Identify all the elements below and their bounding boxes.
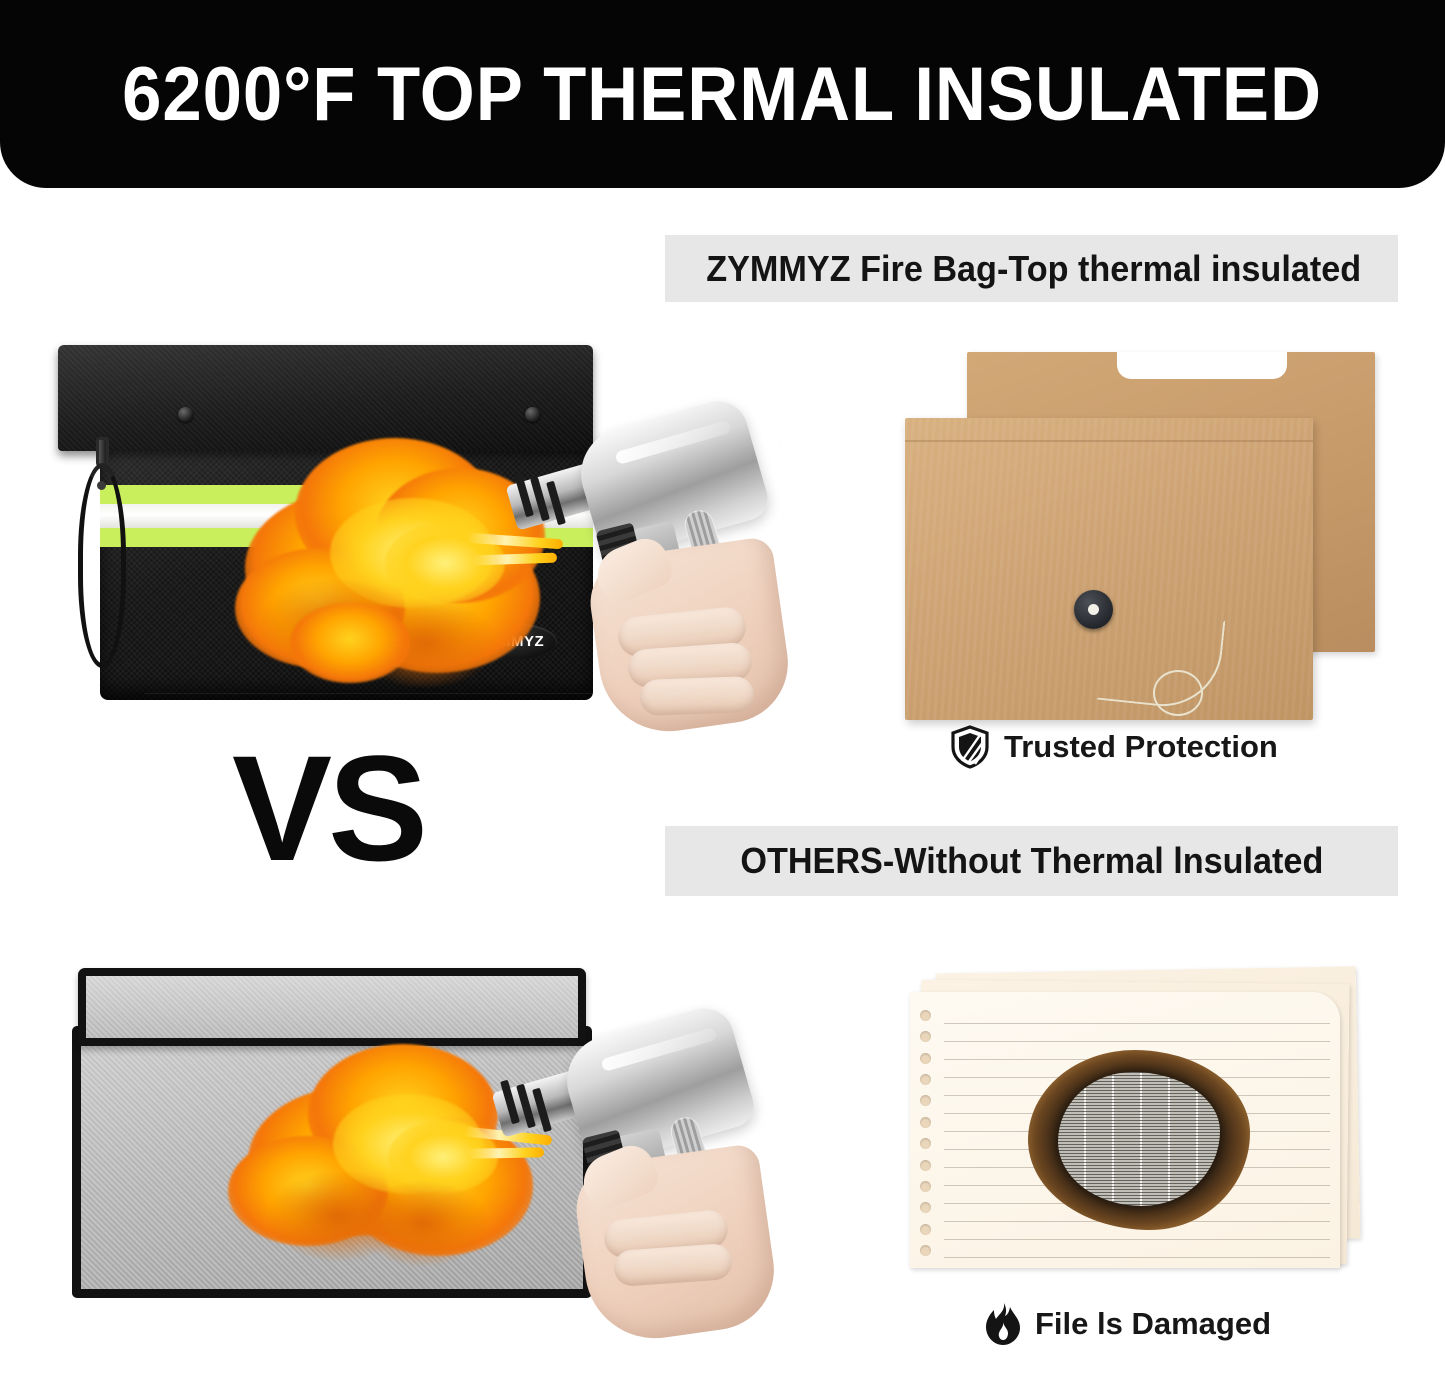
flame-icon: [985, 1302, 1021, 1346]
header-banner: 6200°F TOP THERMAL INSULATED: [0, 0, 1445, 188]
punch-hole: [920, 1245, 931, 1256]
burnt-lined-paper: [898, 970, 1370, 1282]
punch-hole: [920, 1095, 931, 1106]
punch-hole: [920, 1010, 931, 1021]
punch-hole: [920, 1160, 931, 1171]
punch-hole: [920, 1224, 931, 1235]
finger: [639, 676, 754, 716]
exposed-newsprint: [1058, 1072, 1220, 1206]
shield-icon: [950, 725, 990, 769]
envelope-notch: [1117, 352, 1287, 379]
kraft-envelope-intact: [905, 352, 1375, 720]
label-banner-competitor: OTHERS-Without Thermal lnsulated: [665, 826, 1398, 896]
envelope-string-loop: [1153, 670, 1203, 716]
paper-punch-holes: [920, 1010, 934, 1256]
caption-trusted-protection: Trusted Protection: [950, 725, 1278, 769]
bag-printed-digit: 6: [286, 502, 306, 549]
strap-loop: [78, 463, 126, 668]
punch-hole: [920, 1074, 931, 1085]
label-banner-competitor-text: OTHERS-Without Thermal lnsulated: [740, 840, 1323, 882]
label-banner-top-text: ZYMMYZ Fire Bag-Top thermal insulated: [706, 248, 1361, 290]
wrist-strap: [72, 437, 130, 677]
punch-hole: [920, 1117, 931, 1128]
punch-hole: [920, 1202, 931, 1213]
caption-trusted-protection-text: Trusted Protection: [1004, 729, 1278, 765]
caption-file-damaged: File ls Damaged: [985, 1302, 1271, 1346]
paper-sheet-front: [910, 992, 1340, 1268]
caption-file-damaged-text: File ls Damaged: [1035, 1306, 1271, 1342]
punch-hole: [920, 1031, 931, 1042]
strap-stud-icon: [97, 481, 106, 490]
page-title: 6200°F TOP THERMAL INSULATED: [123, 51, 1323, 138]
butane-torch-top: [492, 398, 797, 728]
envelope-front-panel: [905, 418, 1313, 720]
vs-label: VS: [232, 722, 424, 895]
butane-torch-bottom: [478, 1005, 778, 1305]
punch-hole: [920, 1181, 931, 1192]
envelope-crease: [905, 440, 1313, 442]
punch-hole: [920, 1138, 931, 1149]
punch-hole: [920, 1053, 931, 1064]
label-banner-top-product: ZYMMYZ Fire Bag-Top thermal insulated: [665, 235, 1398, 302]
snap-button-left-icon: [178, 407, 193, 422]
